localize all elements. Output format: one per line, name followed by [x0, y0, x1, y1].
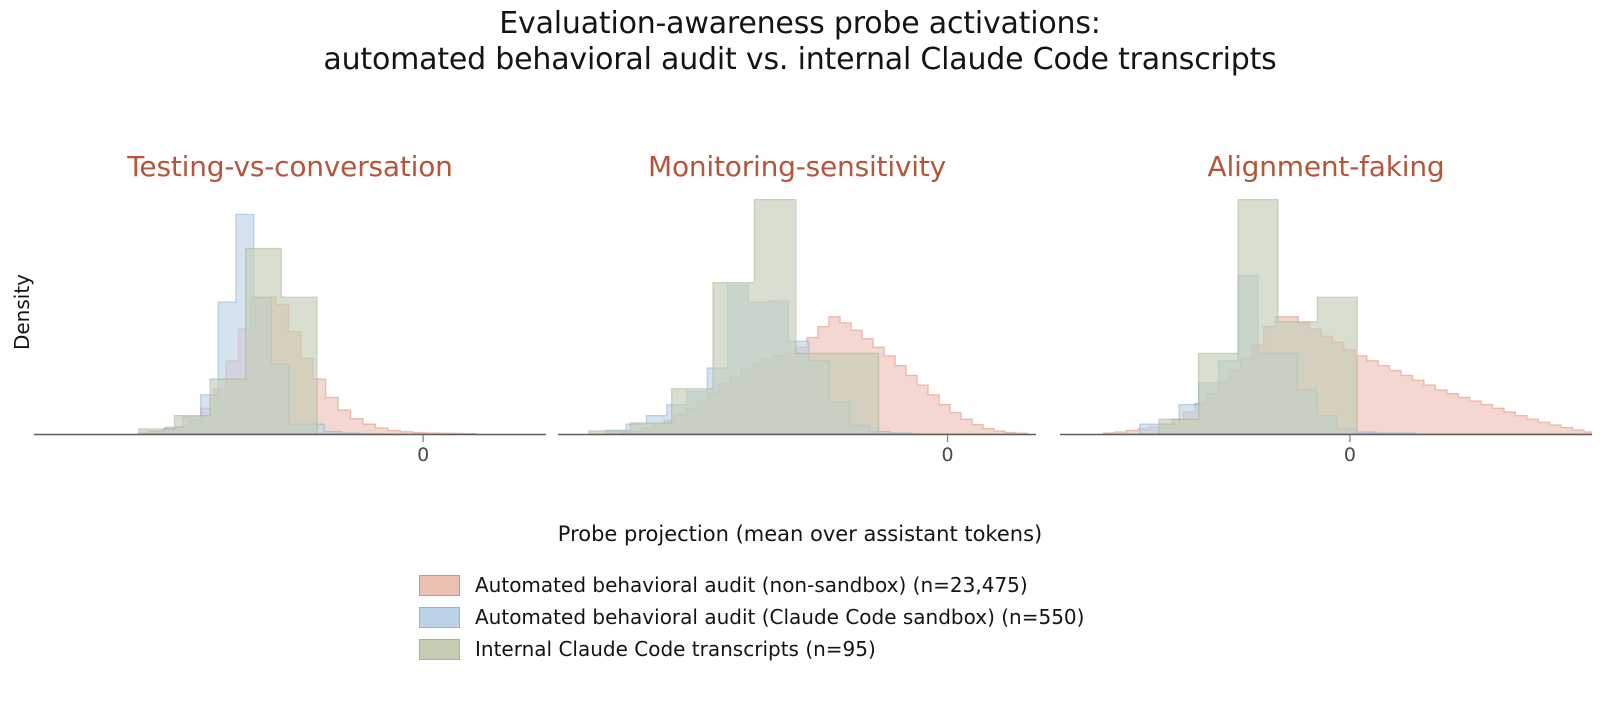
legend-label-2: Automated behavioral audit (Claude Code … [475, 605, 1084, 629]
legend-item-2[interactable]: Automated behavioral audit (Claude Code … [419, 601, 1084, 633]
x-tick-label-zero-panel-2: 0 [928, 444, 968, 466]
x-tick-label-zero-panel-1: 0 [403, 444, 443, 466]
x-tick-label-zero-panel-3: 0 [1330, 444, 1370, 466]
histogram-panel-2 [558, 190, 1036, 448]
legend: Automated behavioral audit (non-sandbox)… [419, 569, 1084, 665]
legend-label-3: Internal Claude Code transcripts (n=95) [475, 637, 876, 661]
legend-item-3[interactable]: Internal Claude Code transcripts (n=95) [419, 633, 1084, 665]
figure-canvas: Evaluation-awareness probe activations: … [0, 0, 1600, 702]
histogram-series-internal_cc [139, 249, 388, 434]
histogram-series-internal_cc [589, 200, 920, 434]
legend-swatch-icon-3 [419, 639, 460, 660]
panel-title-3: Alignment-faking [1060, 150, 1592, 183]
histogram-panel-1 [34, 190, 546, 448]
legend-label-1: Automated behavioral audit (non-sandbox)… [475, 573, 1028, 597]
figure-title: Evaluation-awareness probe activations: … [0, 6, 1600, 78]
histogram-panel-3 [1060, 190, 1592, 448]
x-axis-label: Probe projection (mean over assistant to… [0, 522, 1600, 546]
panel-title-2: Monitoring-sensitivity [558, 150, 1036, 183]
legend-swatch-icon-1 [419, 575, 460, 596]
panel-title-1: Testing-vs-conversation [34, 150, 546, 183]
legend-item-1[interactable]: Automated behavioral audit (non-sandbox)… [419, 569, 1084, 601]
y-axis-label: Density [10, 252, 34, 372]
legend-swatch-icon-2 [419, 607, 460, 628]
